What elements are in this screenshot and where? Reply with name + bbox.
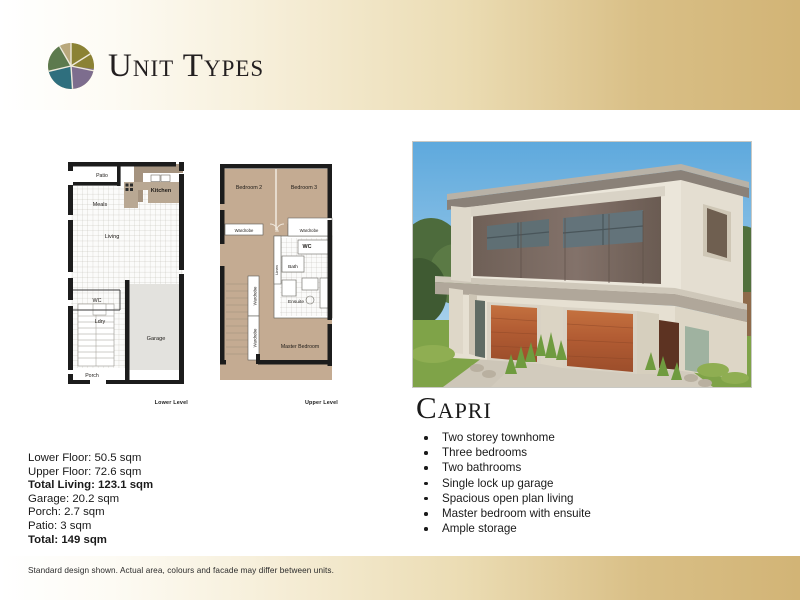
spec-line-total: Total: 149 sqm: [28, 534, 153, 548]
svg-text:Bedroom 3: Bedroom 3: [291, 185, 317, 191]
list-item: Ample storage: [418, 521, 591, 536]
segmented-circle-logo-icon: [48, 43, 94, 89]
svg-text:Master Bedroom: Master Bedroom: [281, 344, 319, 350]
brochure-page: Unit Types: [0, 0, 800, 600]
page-header: Unit Types: [48, 43, 264, 89]
svg-text:Bedroom 2: Bedroom 2: [236, 185, 262, 191]
list-item: Single lock up garage: [418, 476, 591, 491]
floor-plan-upper-level[interactable]: Bedroom 2 Bedroom 3 Wardrobe Wardrobe WC…: [212, 158, 340, 404]
spec-line-total-living: Total Living: 123.1 sqm: [28, 479, 153, 493]
product-name: Capri: [416, 392, 492, 423]
list-item: Two storey townhome: [418, 430, 591, 445]
svg-text:Wardrobe: Wardrobe: [253, 286, 258, 305]
svg-text:Bath: Bath: [288, 264, 298, 270]
spec-line: Patio: 3 sqm: [28, 520, 153, 534]
area-specifications: Lower Floor: 50.5 sqm Upper Floor: 72.6 …: [28, 452, 153, 547]
list-item: Two bathrooms: [418, 460, 591, 475]
svg-text:WC: WC: [303, 244, 312, 250]
disclaimer-text: Standard design shown. Actual area, colo…: [28, 566, 334, 575]
svg-text:Porch: Porch: [85, 373, 99, 379]
svg-text:WC: WC: [93, 298, 102, 304]
spec-line: Porch: 2.7 sqm: [28, 506, 153, 520]
svg-text:Kitchen: Kitchen: [151, 188, 172, 194]
svg-text:Garage: Garage: [147, 336, 166, 342]
spec-line: Lower Floor: 50.5 sqm: [28, 452, 153, 466]
svg-text:Living: Living: [105, 234, 120, 240]
svg-text:Meals: Meals: [93, 202, 108, 208]
svg-text:Wardrobe: Wardrobe: [253, 328, 258, 347]
page-title: Unit Types: [108, 50, 264, 83]
list-item: Master bedroom with ensuite: [418, 506, 591, 521]
svg-text:Wardrobe: Wardrobe: [300, 228, 319, 233]
svg-text:Linen: Linen: [274, 265, 279, 275]
upper-level-label: Upper Level: [305, 400, 338, 406]
spec-line: Upper Floor: 72.6 sqm: [28, 466, 153, 480]
svg-text:Ldry: Ldry: [95, 319, 106, 325]
list-item: Three bedrooms: [418, 445, 591, 460]
svg-text:Wardrobe: Wardrobe: [235, 228, 254, 233]
exterior-render-photo[interactable]: [412, 141, 752, 388]
lower-level-label: Lower Level: [155, 400, 188, 406]
svg-text:Patio: Patio: [96, 173, 108, 179]
bottom-gradient-band: [0, 556, 800, 600]
list-item: Spacious open plan living: [418, 491, 591, 506]
floor-plan-lower-level[interactable]: Patio Kitchen Meals Living WC Ldry Garag…: [62, 158, 190, 404]
spec-line: Garage: 20.2 sqm: [28, 493, 153, 507]
feature-list: Two storey townhome Three bedrooms Two b…: [418, 430, 591, 536]
svg-text:Ensuite: Ensuite: [288, 299, 304, 305]
